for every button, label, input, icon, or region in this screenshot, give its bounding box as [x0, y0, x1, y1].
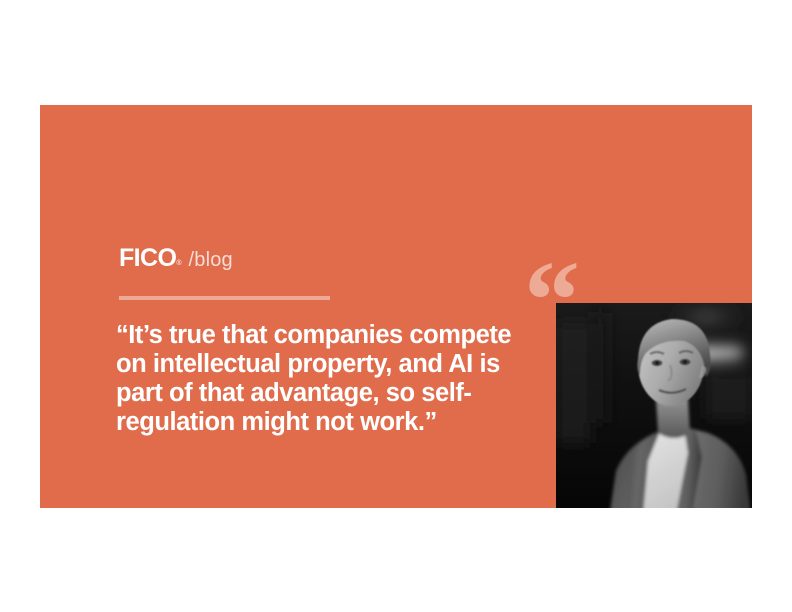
divider-top — [119, 296, 330, 300]
quote-card: FICO ® /blog “It’s true that companies c… — [40, 105, 752, 508]
blog-label: /blog — [189, 250, 233, 270]
fico-wordmark: FICO — [119, 246, 176, 271]
portrait-photo — [556, 303, 752, 508]
registered-trademark-icon: ® — [176, 260, 181, 267]
quote-text: “It’s true that companies compete on int… — [116, 321, 536, 437]
fico-blog-logo[interactable]: FICO ® /blog — [119, 246, 233, 271]
